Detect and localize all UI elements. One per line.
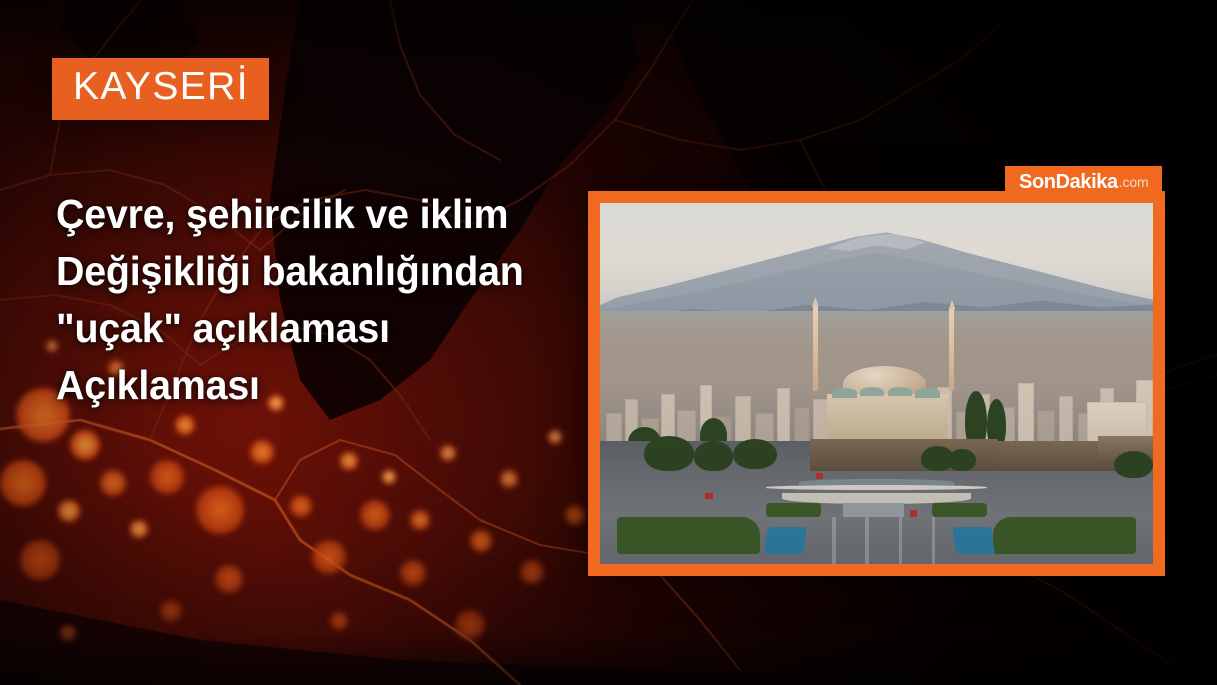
city-badge: KAYSERİ — [52, 58, 269, 120]
headline: Çevre, şehircilik ve iklim Değişikliği b… — [56, 186, 576, 414]
logo-main-text: SonDakika — [1019, 172, 1118, 192]
photo-frame — [588, 191, 1165, 576]
photo-atmosphere — [600, 203, 1153, 564]
logo-tld-text: .com — [1119, 172, 1149, 192]
sondakika-logo[interactable]: SonDakika .com — [1005, 166, 1162, 197]
headline-line-2: Değişikliği bakanlığından — [56, 243, 555, 300]
headline-line-4: Açıklaması — [56, 357, 555, 414]
city-badge-label: KAYSERİ — [73, 67, 249, 107]
kayseri-cityscape-photo — [600, 203, 1153, 564]
news-card: KAYSERİ Çevre, şehircilik ve iklim Değiş… — [0, 0, 1217, 685]
headline-line-3: "uçak" açıklaması — [56, 300, 555, 357]
headline-line-1: Çevre, şehircilik ve iklim — [56, 186, 555, 243]
